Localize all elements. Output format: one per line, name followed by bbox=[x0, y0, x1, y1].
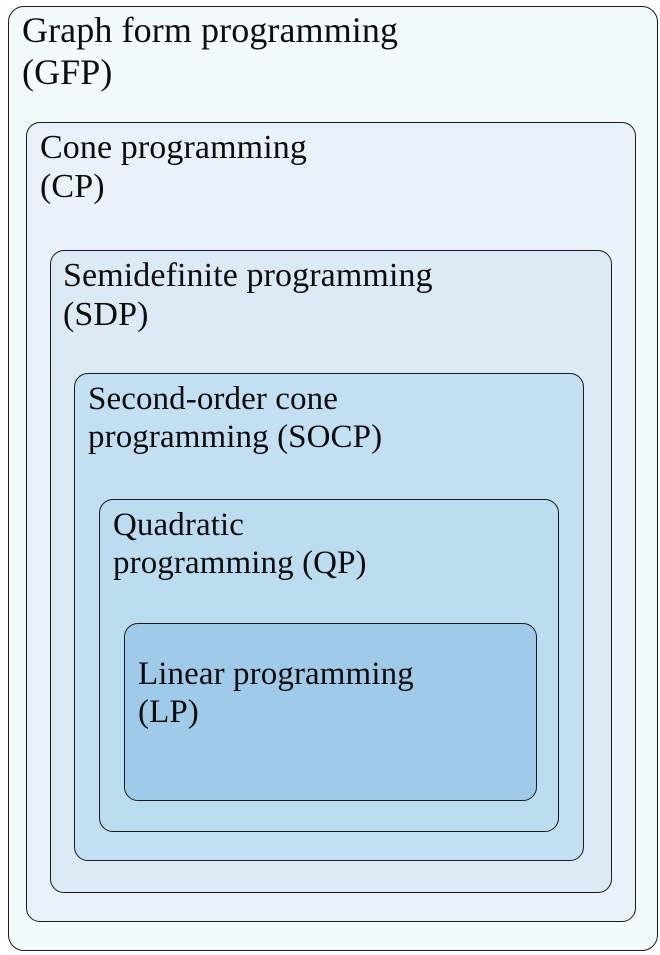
label-graph-form-programming: Graph form programming (GFP) bbox=[22, 10, 622, 94]
label-semidefinite-programming: Semidefinite programming (SDP) bbox=[63, 256, 593, 335]
label-linear-programming: Linear programming (LP) bbox=[138, 655, 528, 732]
label-cone-programming: Cone programming (CP) bbox=[40, 128, 610, 207]
label-second-order-cone-programming: Second-order cone programming (SOCP) bbox=[88, 380, 568, 457]
nested-hierarchy-diagram: Graph form programming (GFP) Cone progra… bbox=[0, 0, 660, 955]
label-quadratic-programming: Quadratic programming (QP) bbox=[113, 506, 543, 583]
